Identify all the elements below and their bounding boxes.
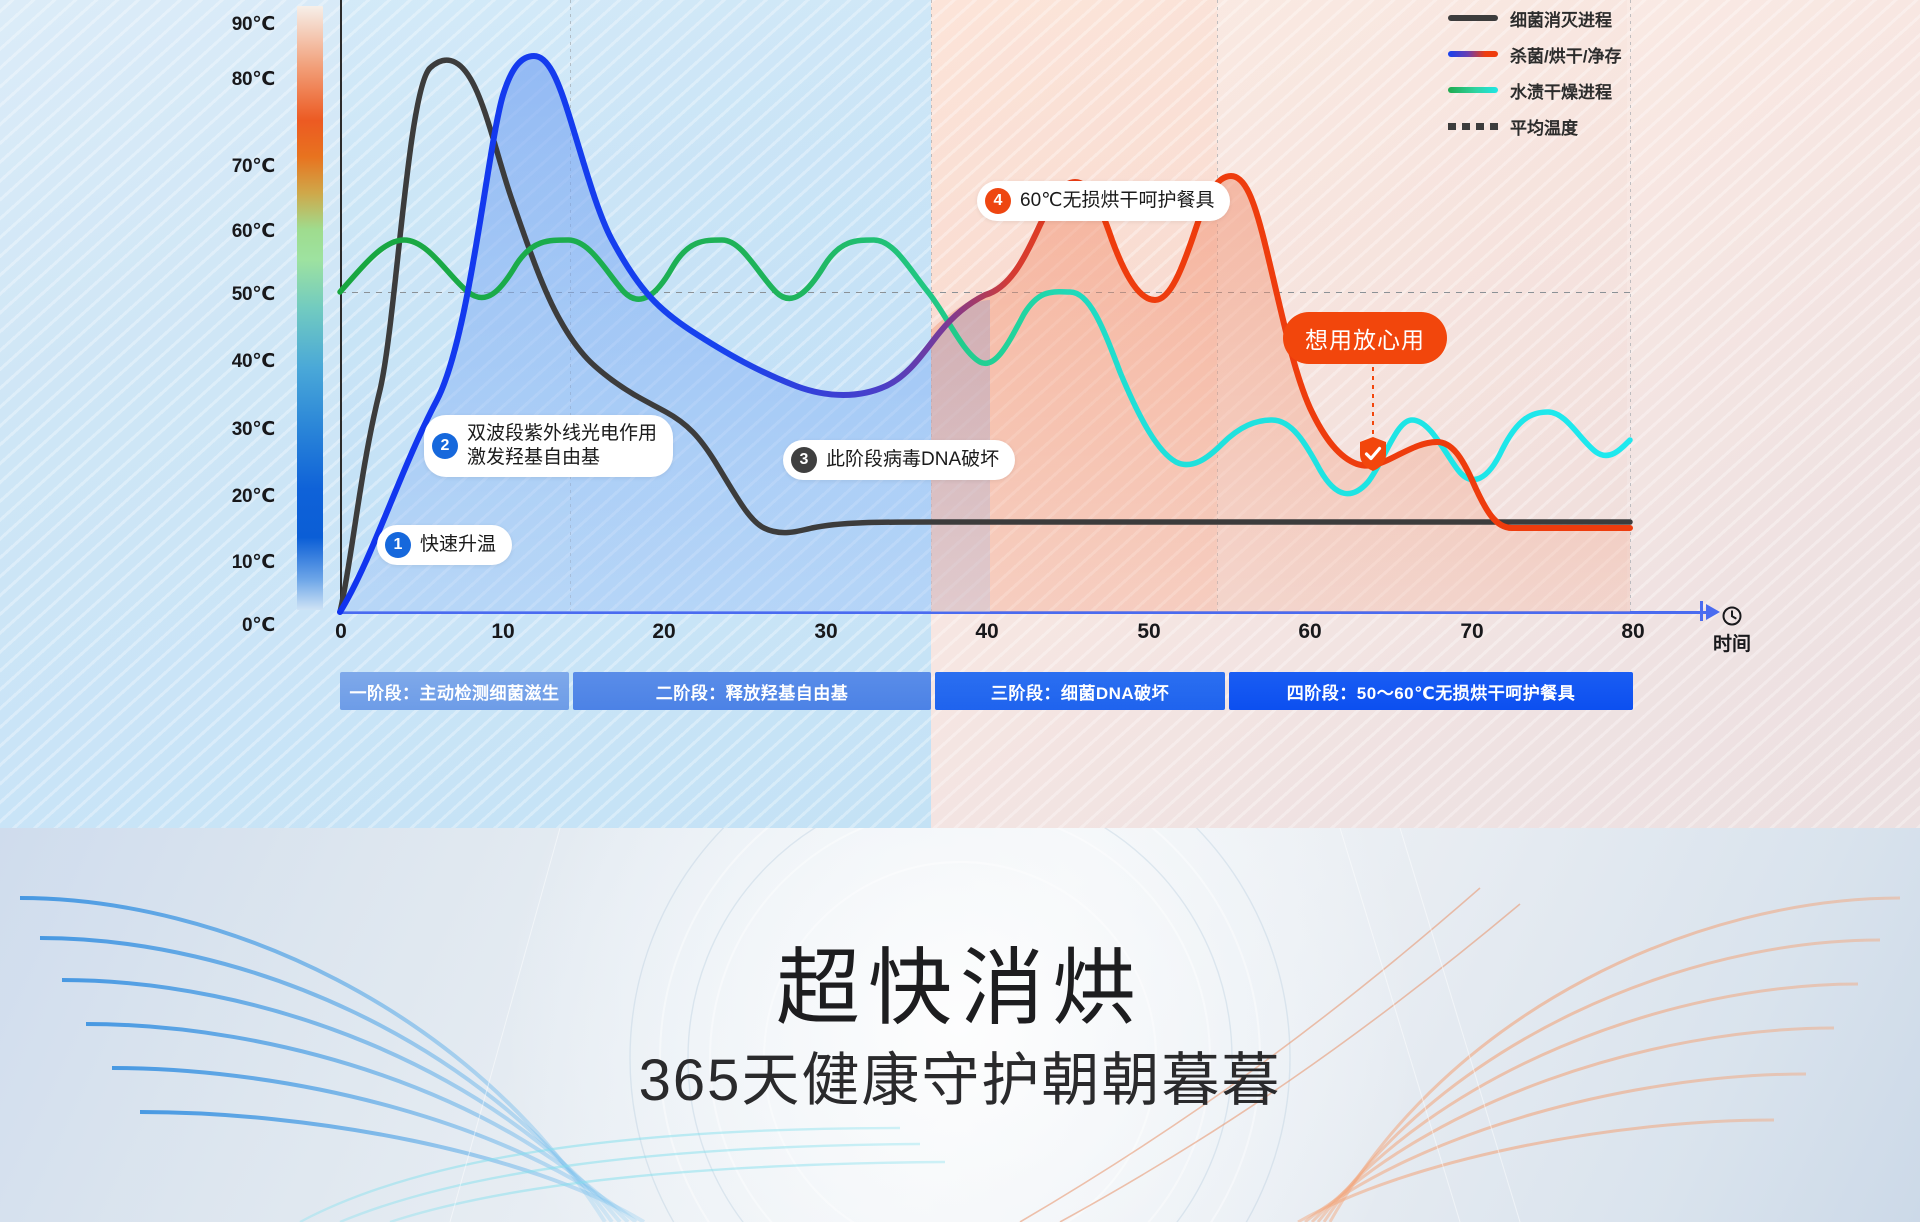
hero-text-block: 超快消烘 365天健康守护朝朝暮暮	[0, 828, 1920, 1110]
annotation-callout-3[interactable]: 3 此阶段病毒DNA破坏	[783, 440, 1015, 480]
phase-bar-2[interactable]: 二阶段：释放羟基自由基	[573, 672, 931, 710]
annotation-callout-2[interactable]: 2 双波段紫外线光电作用 激发羟基自由基	[424, 415, 673, 477]
chart-legend: 细菌消灭进程 杀菌/烘干/净存 水渍干燥进程 平均温度	[1448, 0, 1708, 144]
annotation-number-3: 3	[791, 447, 817, 473]
legend-swatch-gradient-icon	[1448, 51, 1498, 57]
annotation-number-1: 1	[385, 532, 411, 558]
legend-label-1: 杀菌/烘干/净存	[1510, 42, 1621, 67]
phase-bar-1[interactable]: 一阶段：主动检测细菌滋生	[340, 672, 569, 710]
annotation-callout-4[interactable]: 4 60℃无损烘干呵护餐具	[977, 181, 1230, 221]
legend-item-3[interactable]: 平均温度	[1448, 108, 1708, 144]
area-fill-red	[931, 176, 1630, 612]
annotation-text-4: 60℃无损烘干呵护餐具	[1020, 189, 1214, 213]
phase-bar-3[interactable]: 三阶段：细菌DNA破坏	[935, 672, 1225, 710]
legend-label-3: 平均温度	[1510, 114, 1578, 139]
annotation-number-2: 2	[432, 433, 458, 459]
annotation-text-3: 此阶段病毒DNA破坏	[826, 448, 999, 472]
legend-label-0: 细菌消灭进程	[1510, 6, 1612, 31]
legend-item-1[interactable]: 杀菌/烘干/净存	[1448, 36, 1708, 72]
legend-swatch-dotted-icon	[1448, 123, 1498, 130]
hero-section: 超快消烘 365天健康守护朝朝暮暮	[0, 828, 1920, 1222]
phase-bar-4[interactable]: 四阶段：50～60℃无损烘干呵护餐具	[1229, 672, 1633, 710]
phase-bar-group: 一阶段：主动检测细菌滋生 二阶段：释放羟基自由基 三阶段：细菌DNA破坏 四阶段…	[340, 672, 1633, 710]
legend-swatch-green-icon	[1448, 87, 1498, 93]
badge-connector-line	[1372, 358, 1374, 444]
hero-title: 超快消烘	[0, 946, 1920, 1030]
annotation-text-1: 快速升温	[420, 533, 496, 557]
annotation-text-2: 双波段紫外线光电作用 激发羟基自由基	[467, 422, 657, 470]
legend-item-0[interactable]: 细菌消灭进程	[1448, 0, 1708, 36]
shield-check-icon	[1358, 436, 1388, 472]
promo-badge[interactable]: 想用放心用	[1283, 312, 1447, 364]
chart-panel: 90℃ 80℃ 70℃ 60℃ 50℃ 40℃ 30℃ 20℃ 10℃ 0℃ 0…	[0, 0, 1920, 828]
annotation-number-4: 4	[985, 188, 1011, 214]
legend-label-2: 水渍干燥进程	[1510, 78, 1612, 103]
page-root: 90℃ 80℃ 70℃ 60℃ 50℃ 40℃ 30℃ 20℃ 10℃ 0℃ 0…	[0, 0, 1920, 1222]
annotation-callout-1[interactable]: 1 快速升温	[377, 525, 512, 565]
legend-item-2[interactable]: 水渍干燥进程	[1448, 72, 1708, 108]
hero-subtitle: 365天健康守护朝朝暮暮	[0, 1052, 1920, 1110]
legend-swatch-line-icon	[1448, 15, 1498, 21]
